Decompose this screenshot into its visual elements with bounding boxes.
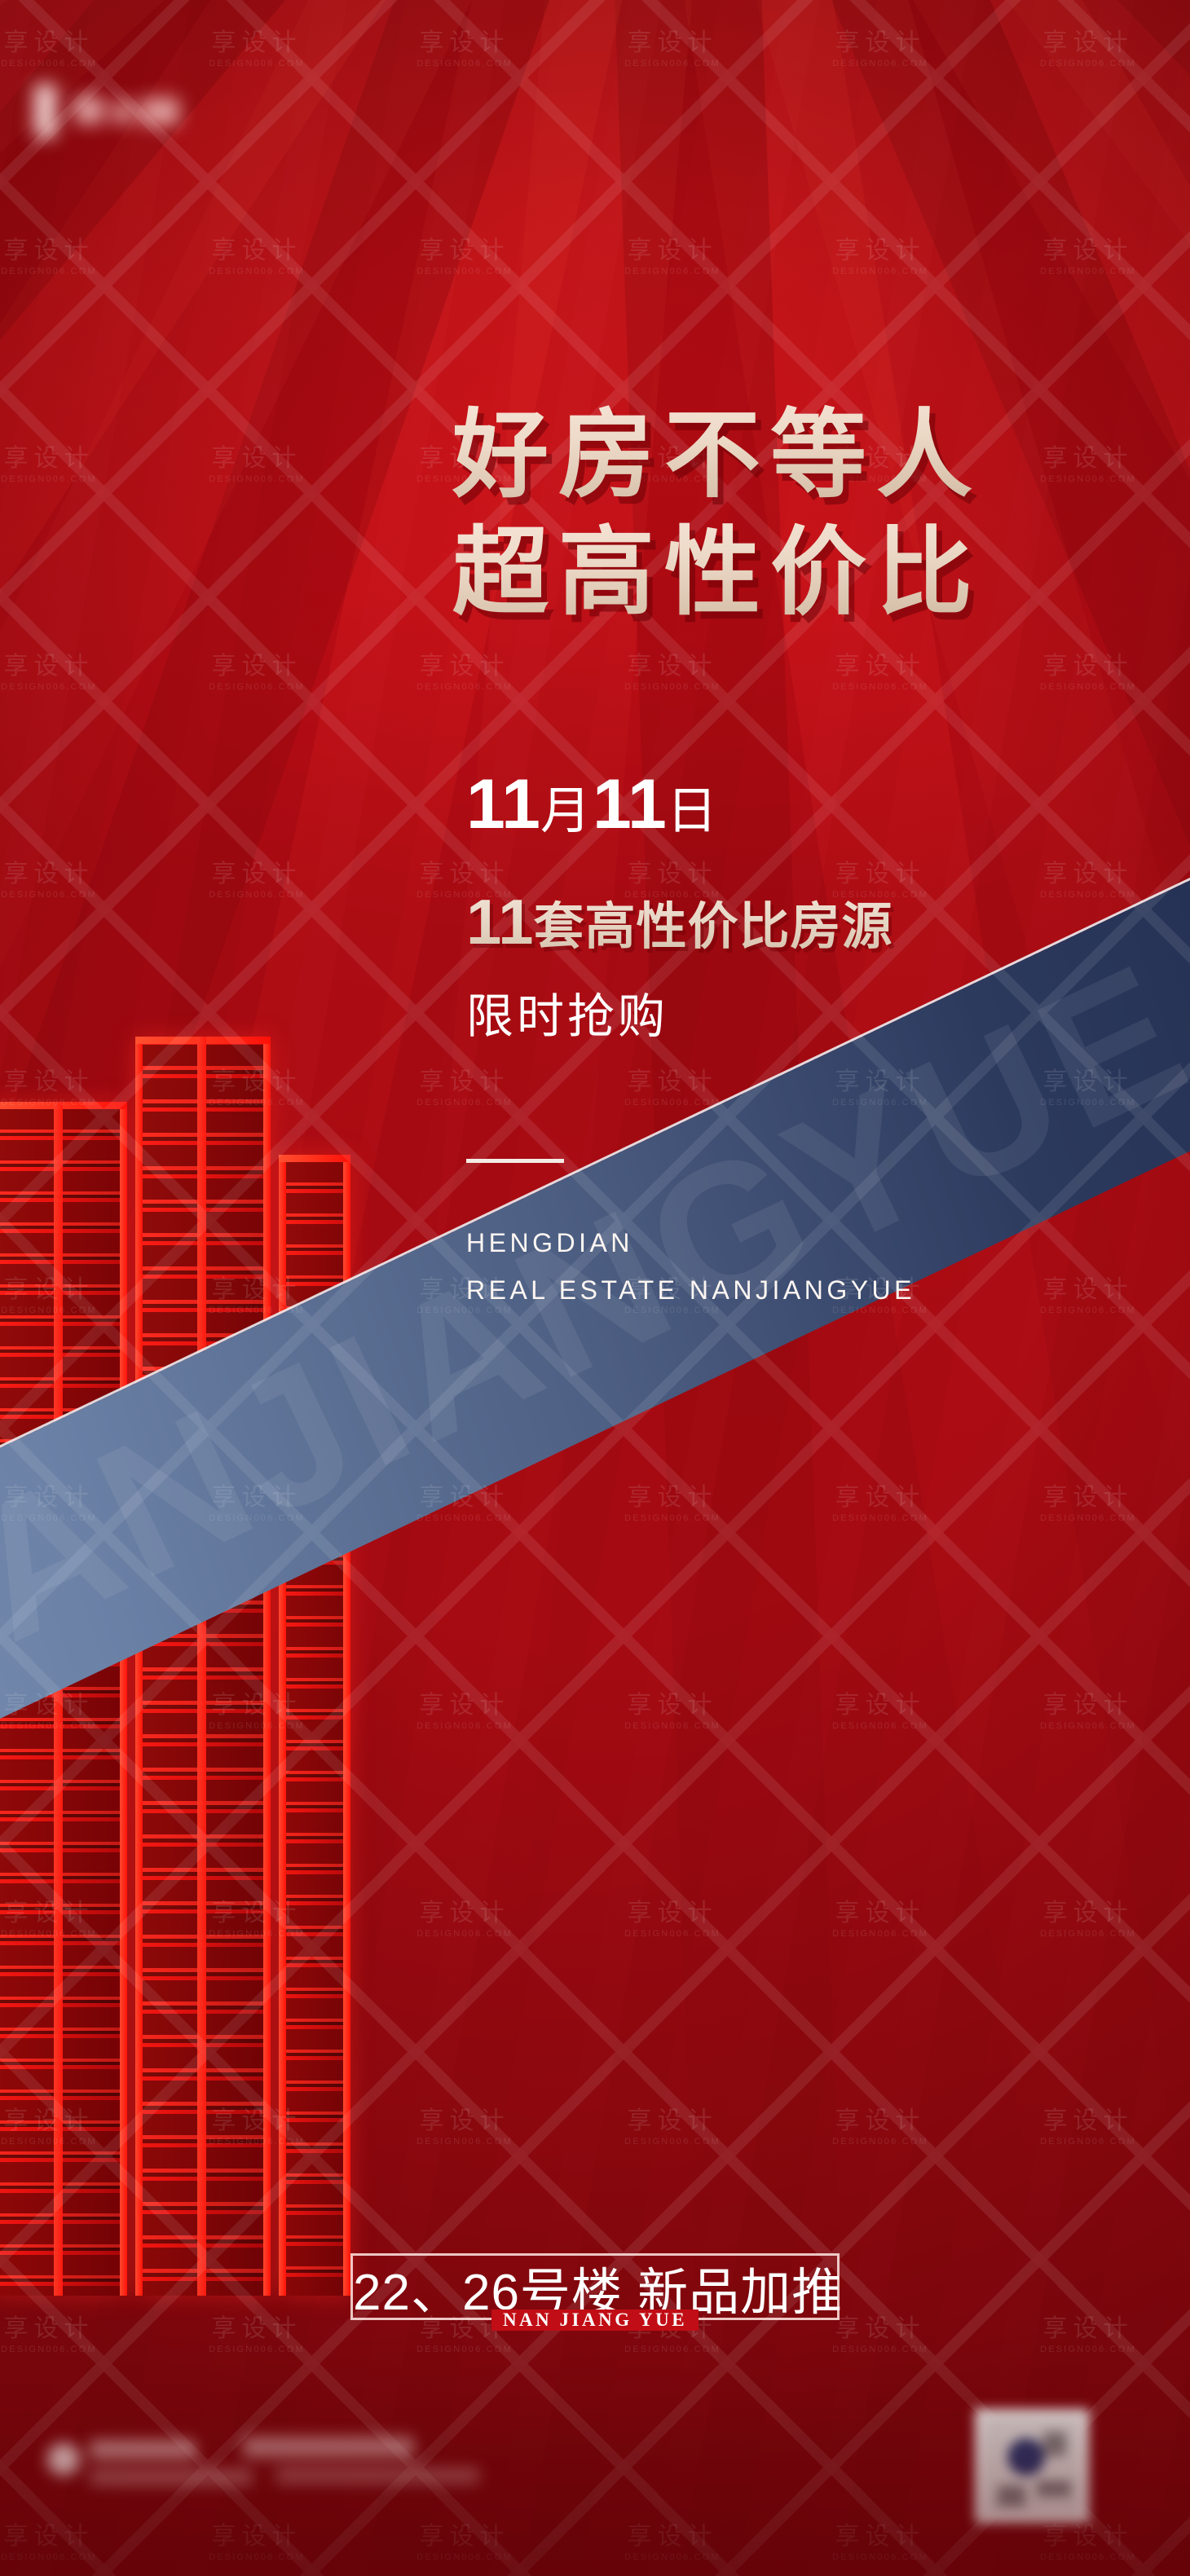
date-day-char: 日	[667, 783, 719, 839]
third-line: 限时抢购	[466, 978, 668, 1046]
date-line: 11月11日	[466, 764, 719, 845]
english-block: HENGDIAN REAL ESTATE NANJIANGYUE	[466, 1219, 915, 1314]
sub-count: 11	[466, 886, 533, 958]
headline-line-2: 超高性价比	[452, 515, 982, 632]
promo-badge-subtitle: NAN JIANG YUE	[491, 2310, 699, 2331]
footer-contact-bar	[39, 2430, 496, 2500]
divider-rule	[466, 1159, 564, 1163]
promo-badge-subtitle-wrap: NAN JIANG YUE	[350, 2310, 840, 2332]
date-day-number: 11	[593, 765, 667, 843]
poster-canvas: NANJIANGYUE 享设计DESIGN006.COM享设计DESIGN006…	[0, 0, 1190, 2576]
qr-code[interactable]	[975, 2409, 1089, 2523]
english-line-2: REAL ESTATE NANJIANGYUE	[466, 1266, 915, 1314]
headline-line-1: 好房不等人	[452, 398, 982, 515]
brand-logo	[33, 88, 196, 139]
date-month-number: 11	[466, 765, 540, 843]
sub-headline: 11套高性价比房源	[466, 885, 892, 959]
english-line-1: HENGDIAN	[466, 1219, 915, 1266]
headline-block: 好房不等人 超高性价比	[452, 398, 982, 632]
date-month-char: 月	[540, 783, 593, 839]
sub-text: 套高性价比房源	[533, 899, 892, 955]
